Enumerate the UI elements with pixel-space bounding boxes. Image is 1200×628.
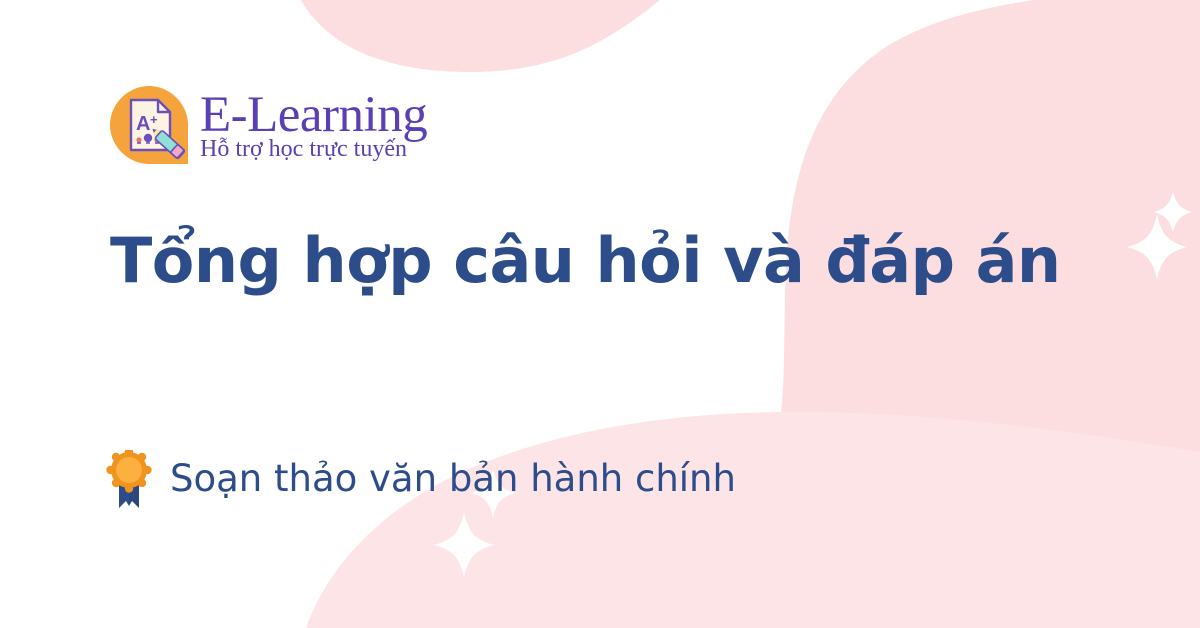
elearning-logo-title: E-Learning <box>200 91 427 141</box>
elearning-logo[interactable]: A + E-Learning Hỗ trợ họ <box>106 82 427 168</box>
promo-banner: A + E-Learning Hỗ trợ họ <box>0 0 1200 628</box>
elearning-logo-tagline: Hỗ trợ học trực tuyến <box>200 137 427 162</box>
subtitle-label: Soạn thảo văn bản hành chính <box>170 457 736 501</box>
page-title: Tổng hợp câu hỏi và đáp án <box>110 228 1120 295</box>
elearning-wordmark: E-Learning Hỗ trợ học trực tuyến <box>200 91 427 162</box>
svg-text:A: A <box>136 113 150 135</box>
elearning-document-pencil-icon: A + <box>106 82 192 168</box>
svg-text:+: + <box>150 112 158 127</box>
award-medal-icon <box>106 450 152 512</box>
subtitle-row: Soạn thảo văn bản hành chính <box>106 448 1126 510</box>
